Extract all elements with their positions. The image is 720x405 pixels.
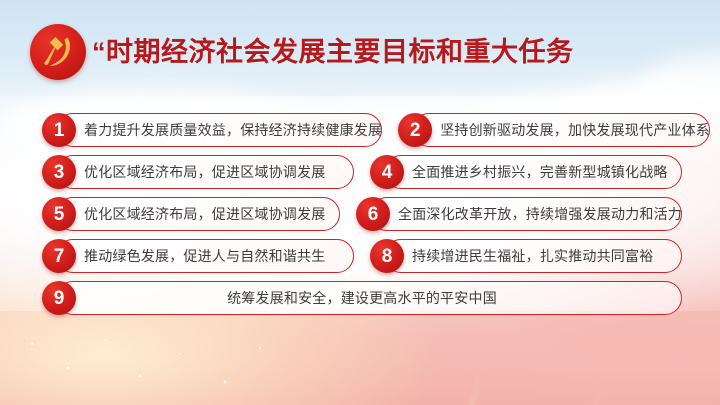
- item-number-badge: 5: [42, 197, 76, 231]
- item-label: 优化区域经济布局，促进区域协调发展: [84, 162, 325, 182]
- item-number-badge: 8: [370, 239, 404, 273]
- slide-header: “时期经济社会发展主要目标和重大任务: [30, 24, 574, 80]
- list-row: 1 着力提升发展质量效益，保持经济持续健康发展 2 坚持创新驱动发展，加快发展现…: [42, 113, 682, 147]
- item-number-badge: 1: [42, 113, 76, 147]
- item-label: 持续增进民生福祉，扎实推动共同富裕: [412, 246, 653, 266]
- list-item[interactable]: 9 统筹发展和安全，建设更高水平的平安中国: [42, 281, 682, 315]
- item-number-badge: 3: [42, 155, 76, 189]
- list-row: 9 统筹发展和安全，建设更高水平的平安中国: [42, 281, 682, 315]
- list-row: 5 优化区域经济布局，促进区域协调发展 6 全面深化改革开放，持续增强发展动力和…: [42, 197, 682, 231]
- list-item[interactable]: 6 全面深化改革开放，持续增强发展动力和活力: [356, 197, 682, 231]
- list-item[interactable]: 5 优化区域经济布局，促进区域协调发展: [42, 197, 340, 231]
- item-number-badge: 7: [42, 239, 76, 273]
- list-item[interactable]: 3 优化区域经济布局，促进区域协调发展: [42, 155, 354, 189]
- ccp-party-emblem-icon: [30, 24, 86, 80]
- slide-canvas: “时期经济社会发展主要目标和重大任务 1 着力提升发展质量效益，保持经济持续健康…: [0, 0, 720, 405]
- sparkle-particles: [20, 330, 280, 400]
- list-item[interactable]: 1 着力提升发展质量效益，保持经济持续健康发展: [42, 113, 382, 147]
- list-item[interactable]: 8 持续增进民生福祉，扎实推动共同富裕: [370, 239, 682, 273]
- list-item[interactable]: 4 全面推进乡村振兴，完善新型城镇化战略: [370, 155, 682, 189]
- item-label: 坚持创新驱动发展，加快发展现代产业体系: [440, 120, 710, 140]
- item-number-badge: 4: [370, 155, 404, 189]
- list-item[interactable]: 7 推动绿色发展，促进人与自然和谐共生: [42, 239, 354, 273]
- item-label: 统筹发展和安全，建设更高水平的平安中国: [76, 288, 648, 308]
- list-row: 3 优化区域经济布局，促进区域协调发展 4 全面推进乡村振兴，完善新型城镇化战略: [42, 155, 682, 189]
- item-label: 全面推进乡村振兴，完善新型城镇化战略: [412, 162, 668, 182]
- item-number-badge: 9: [42, 281, 76, 315]
- item-label: 优化区域经济布局，促进区域协调发展: [84, 204, 325, 224]
- item-label: 全面深化改革开放，持续增强发展动力和活力: [398, 204, 682, 224]
- item-number-badge: 2: [398, 113, 432, 147]
- page-title: “时期经济社会发展主要目标和重大任务: [92, 39, 574, 66]
- item-label: 推动绿色发展，促进人与自然和谐共生: [84, 246, 325, 266]
- item-number-badge: 6: [356, 197, 390, 231]
- objectives-list: 1 着力提升发展质量效益，保持经济持续健康发展 2 坚持创新驱动发展，加快发展现…: [42, 113, 682, 323]
- item-label: 着力提升发展质量效益，保持经济持续健康发展: [84, 120, 382, 140]
- list-item[interactable]: 2 坚持创新驱动发展，加快发展现代产业体系: [398, 113, 710, 147]
- list-row: 7 推动绿色发展，促进人与自然和谐共生 8 持续增进民生福祉，扎实推动共同富裕: [42, 239, 682, 273]
